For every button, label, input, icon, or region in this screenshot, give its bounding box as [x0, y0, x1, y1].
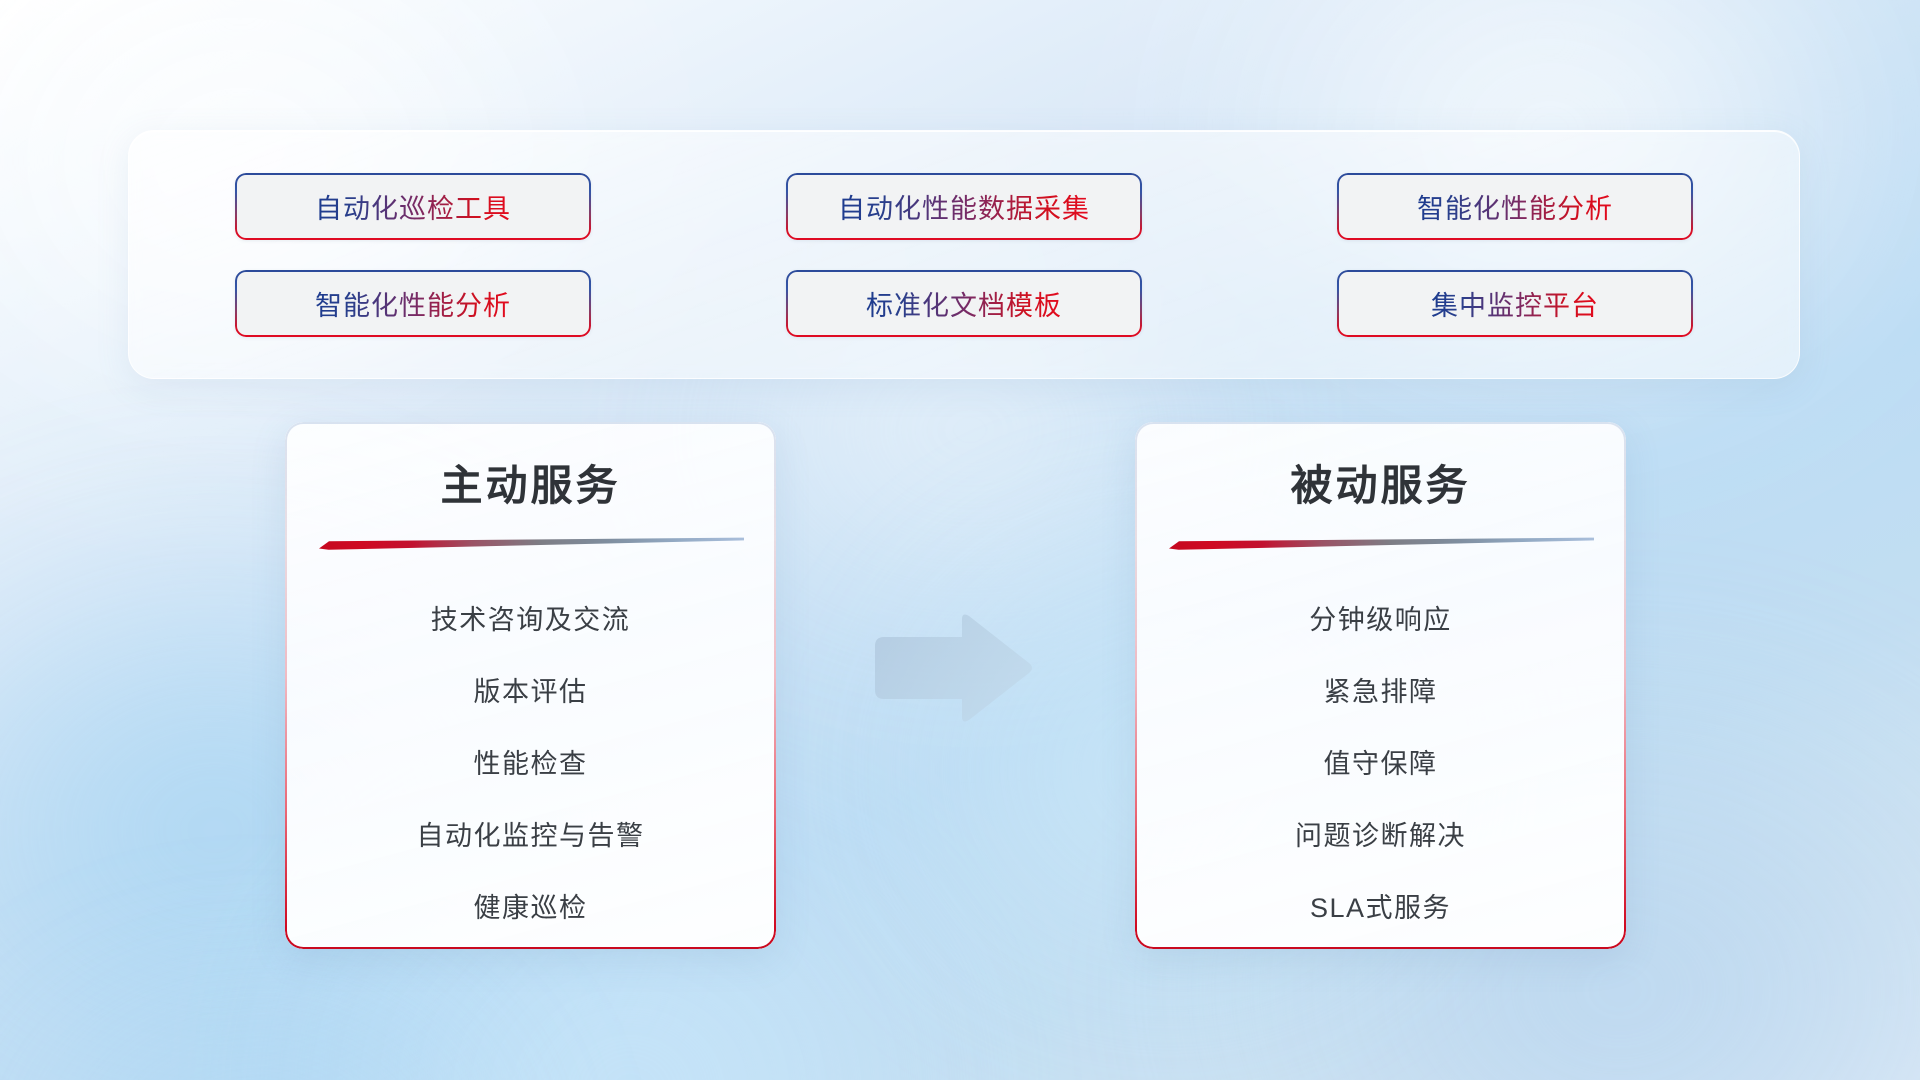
capability-chip[interactable]: 智能化性能分析	[235, 270, 591, 337]
service-list: 技术咨询及交流 版本评估 性能检查 自动化监控与告警 健康巡检	[319, 584, 742, 944]
card-title: 被动服务	[1169, 460, 1592, 513]
card-divider-line	[1169, 537, 1594, 550]
service-card-active[interactable]: 主动服务	[285, 422, 776, 949]
card-divider-line	[319, 537, 744, 550]
service-list: 分钟级响应 紧急排障 值守保障 问题诊断解决 SLA式服务	[1169, 584, 1592, 944]
capability-chip[interactable]: 自动化性能数据采集	[786, 173, 1142, 240]
card-content: 被动服务	[1135, 422, 1626, 949]
capability-chip[interactable]: 标准化文档模板	[786, 270, 1142, 337]
list-item: 性能检查	[319, 728, 742, 800]
right-arrow-icon	[869, 612, 1033, 724]
capability-label: 集中监控平台	[1431, 284, 1599, 323]
list-item: 分钟级响应	[1169, 584, 1592, 656]
capability-chip[interactable]: 智能化性能分析	[1337, 173, 1693, 240]
list-item: 值守保障	[1169, 728, 1592, 800]
capabilities-panel: 自动化巡检工具 自动化性能数据采集 智能化性能分析 智能化性能分析 标准化文档模…	[128, 130, 1800, 379]
list-item: 问题诊断解决	[1169, 800, 1592, 872]
capability-label: 自动化巡检工具	[315, 187, 511, 226]
list-item: 版本评估	[319, 656, 742, 728]
capability-chip[interactable]: 自动化巡检工具	[235, 173, 591, 240]
capability-chip[interactable]: 集中监控平台	[1337, 270, 1693, 337]
list-item: 自动化监控与告警	[319, 800, 742, 872]
capabilities-row-1: 自动化巡检工具 自动化性能数据采集 智能化性能分析	[129, 173, 1799, 240]
card-content: 主动服务	[285, 422, 776, 949]
list-item: SLA式服务	[1169, 872, 1592, 944]
capability-label: 智能化性能分析	[315, 284, 511, 323]
list-item: 技术咨询及交流	[319, 584, 742, 656]
capability-label: 智能化性能分析	[1417, 187, 1613, 226]
diagram-stage: 自动化巡检工具 自动化性能数据采集 智能化性能分析 智能化性能分析 标准化文档模…	[0, 0, 1920, 1080]
list-item: 紧急排障	[1169, 656, 1592, 728]
capability-label: 标准化文档模板	[866, 284, 1062, 323]
capability-label: 自动化性能数据采集	[838, 187, 1090, 226]
list-item: 健康巡检	[319, 872, 742, 944]
card-title: 主动服务	[319, 460, 742, 513]
service-card-passive[interactable]: 被动服务	[1135, 422, 1626, 949]
capabilities-row-2: 智能化性能分析 标准化文档模板 集中监控平台	[129, 270, 1799, 337]
